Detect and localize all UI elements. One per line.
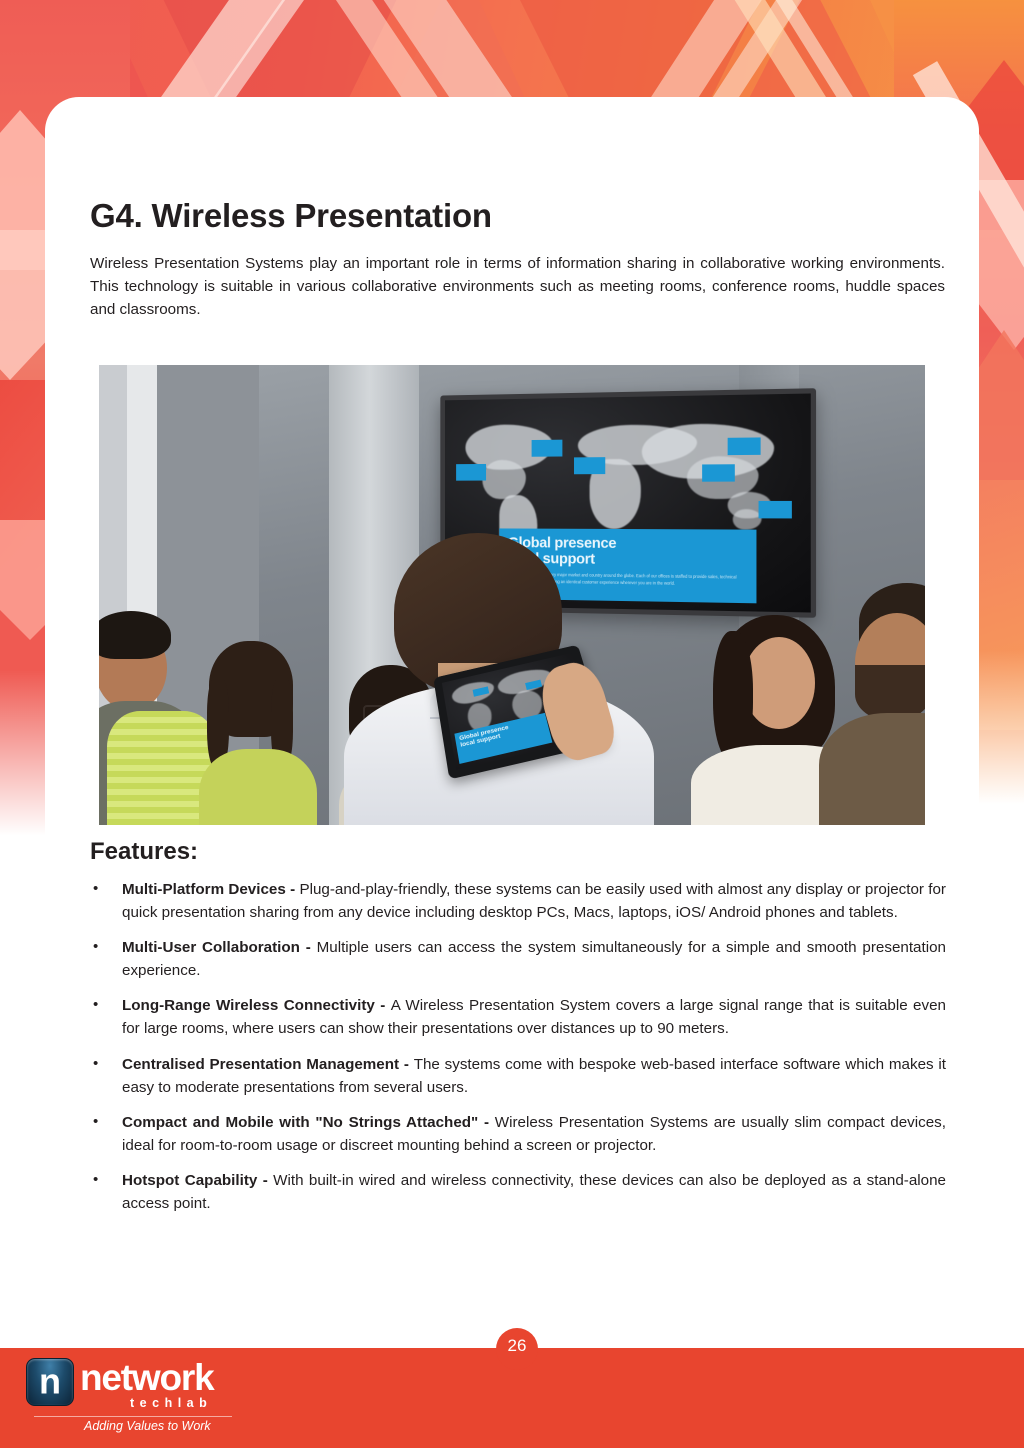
person-hair-front: [713, 631, 753, 761]
map-landmass: [733, 509, 762, 530]
features-list: •Multi-Platform Devices - Plug-and-play-…: [90, 878, 946, 1215]
feature-item: •Centralised Presentation Management - T…: [90, 1053, 946, 1099]
feature-bullet-icon: •: [93, 1111, 98, 1134]
feature-term: Long-Range Wireless Connectivity -: [122, 997, 391, 1014]
feature-item: •Hotspot Capability - With built-in wire…: [90, 1169, 946, 1215]
logo-wordmark: network: [80, 1359, 213, 1396]
feature-term: Multi-Platform Devices -: [122, 881, 299, 898]
feature-bullet-icon: •: [93, 936, 98, 959]
map-label: [702, 464, 735, 481]
feature-bullet-icon: •: [93, 994, 98, 1017]
features-section: Features: •Multi-Platform Devices - Plug…: [90, 838, 946, 1227]
feature-item: •Long-Range Wireless Connectivity - A Wi…: [90, 994, 946, 1040]
logo-divider: [34, 1416, 232, 1417]
person-torso: [819, 713, 925, 825]
feature-bullet-icon: •: [93, 1169, 98, 1192]
photo-person-man-right: [841, 583, 925, 825]
page-number-badge: 26: [496, 1328, 538, 1370]
photo-person-second: [199, 637, 319, 825]
logo-mark-icon: n: [26, 1358, 74, 1406]
logo-mark-letter: n: [27, 1363, 73, 1399]
map-label: [456, 464, 486, 481]
feature-bullet-icon: •: [93, 1053, 98, 1076]
map-label: [532, 440, 563, 457]
feature-term: Compact and Mobile with "No Strings Atta…: [122, 1114, 495, 1131]
page-title: G4. Wireless Presentation: [90, 197, 945, 235]
meeting-room-photo: Global presence local support Content ha…: [99, 365, 925, 825]
person-torso: [199, 749, 317, 825]
map-label: [574, 457, 605, 474]
document-page: G4. Wireless Presentation Wireless Prese…: [0, 0, 1024, 1448]
feature-item: •Multi-User Collaboration - Multiple use…: [90, 936, 946, 982]
feature-term: Centralised Presentation Management -: [122, 1056, 414, 1073]
map-landmass: [482, 460, 526, 499]
feature-bullet-icon: •: [93, 878, 98, 901]
map-label: [759, 501, 792, 519]
feature-item: •Multi-Platform Devices - Plug-and-play-…: [90, 878, 946, 924]
features-heading: Features:: [90, 838, 946, 866]
feature-term: Hotspot Capability -: [122, 1172, 273, 1189]
logo-tagline: Adding Values to Work: [84, 1420, 211, 1433]
person-hair: [99, 611, 171, 659]
company-logo: n network techlab Adding Values to Work: [26, 1356, 256, 1440]
feature-item: •Compact and Mobile with "No Strings Att…: [90, 1111, 946, 1157]
map-label: [728, 437, 761, 455]
article-header: G4. Wireless Presentation Wireless Prese…: [90, 197, 945, 321]
feature-term: Multi-User Collaboration -: [122, 939, 317, 956]
logo-subtitle: techlab: [130, 1397, 212, 1410]
person-head: [743, 637, 815, 729]
intro-paragraph: Wireless Presentation Systems play an im…: [90, 252, 945, 321]
